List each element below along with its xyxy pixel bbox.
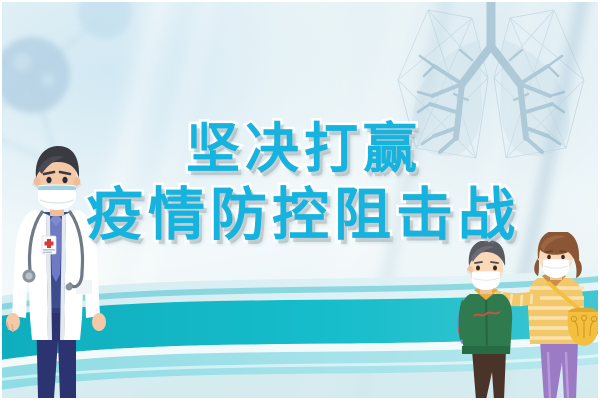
child-figure	[458, 240, 513, 400]
family-figures	[448, 232, 600, 400]
headline-line-2: 疫情防控阻击战	[0, 187, 600, 244]
poster-canvas: 坚决打赢 疫情防控阻击战	[0, 0, 600, 400]
headline-line-1: 坚决打赢	[0, 122, 600, 176]
headline: 坚决打赢 疫情防控阻击战	[0, 122, 600, 244]
